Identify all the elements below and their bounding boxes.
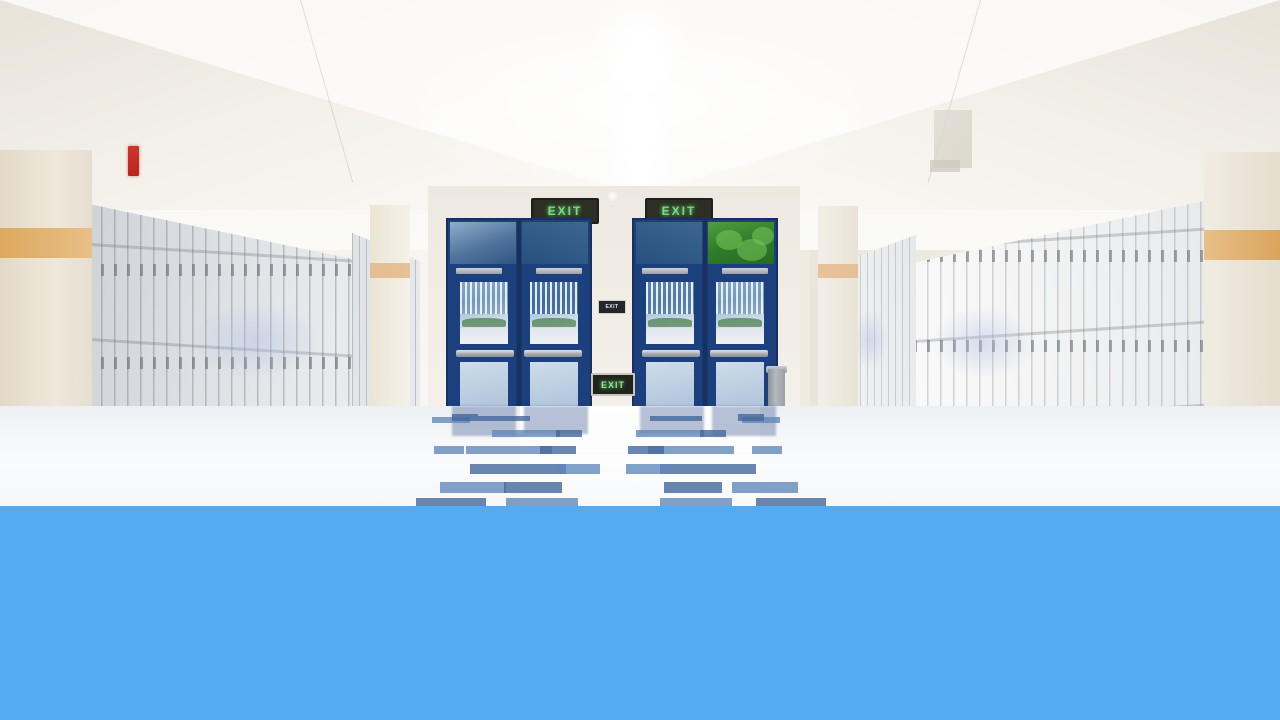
door-vision-glass — [716, 282, 764, 344]
window-blinds — [530, 282, 578, 314]
floor-accent-tile — [628, 446, 664, 454]
double-door-left — [446, 218, 592, 418]
exterior-walkway — [460, 328, 508, 344]
door-closer-arm — [456, 268, 502, 274]
door-lower-panel — [646, 362, 694, 408]
door-lower-panel — [530, 362, 578, 408]
floor-accent-tile — [492, 430, 560, 437]
floor-accent-tile — [556, 430, 582, 437]
foliage-blob — [752, 227, 774, 245]
floor-accent-tile — [504, 482, 562, 493]
door-lower-panel — [716, 362, 764, 408]
door-closer-arm — [536, 268, 582, 274]
floor-accent-tile — [434, 446, 464, 454]
exit-sign-label: EXIT — [605, 304, 618, 310]
floor-accent-tile — [660, 464, 756, 474]
wall-vent-slot — [930, 160, 960, 172]
door-vision-glass — [530, 282, 578, 344]
double-door-right — [632, 218, 778, 418]
door-mullion — [517, 220, 522, 416]
door-closer-arm — [642, 268, 688, 274]
exterior-shrub — [532, 318, 576, 327]
door-vision-glass — [646, 282, 694, 344]
panic-push-bar — [456, 350, 514, 357]
exit-sign-label: EXIT — [601, 380, 625, 390]
floor-accent-tile — [478, 416, 530, 421]
door-lower-panel — [460, 362, 508, 408]
window-blinds — [460, 282, 508, 314]
transom-pane — [450, 222, 516, 264]
hallway-photo: EXIT EXIT — [0, 0, 1280, 506]
exit-sign-lower: EXIT — [591, 373, 635, 396]
exterior-shrub — [648, 318, 692, 327]
floor-accent-tile — [660, 498, 732, 506]
door-closer-arm — [722, 268, 768, 274]
floor-accent-tile — [700, 430, 726, 437]
floor-accent-tile — [470, 464, 566, 474]
floor-accent-tile — [416, 498, 486, 506]
hallway-floor — [0, 406, 1280, 506]
floor-accent-tile — [556, 464, 600, 474]
pillar-accent-band — [1204, 230, 1280, 260]
floor-accent-tile — [452, 414, 478, 421]
exterior-shrub — [718, 318, 762, 327]
door-vision-glass — [460, 282, 508, 344]
locker-reflection — [932, 308, 1034, 378]
exterior-walkway — [646, 328, 694, 344]
panic-push-bar — [642, 350, 700, 357]
locker-reflection — [192, 302, 320, 378]
panic-push-bar — [524, 350, 582, 357]
ceiling-light-3 — [633, 152, 648, 184]
exit-sign-label: EXIT — [548, 204, 583, 218]
floor-accent-tile — [752, 446, 782, 454]
floor-accent-tile — [626, 464, 670, 474]
pillar-accent-band — [818, 264, 858, 278]
locker-handle-row — [88, 264, 378, 276]
exterior-walkway — [530, 328, 578, 344]
panic-push-bar — [710, 350, 768, 357]
pillar-accent-band — [370, 263, 410, 278]
floor-accent-tile — [738, 414, 764, 421]
transom-pane — [636, 222, 702, 264]
floor-accent-tile — [440, 482, 506, 493]
floor-accent-tile — [636, 430, 704, 437]
exterior-walkway — [716, 328, 764, 344]
webinar-title-slide: EXIT EXIT — [0, 0, 1280, 720]
floor-accent-tile — [756, 498, 826, 506]
exit-sign-center-small: EXIT — [598, 300, 626, 314]
door-mullion — [703, 220, 708, 416]
transom-pane-foliage — [708, 222, 774, 264]
exterior-shrub — [462, 318, 506, 327]
recessed-downlight — [606, 192, 619, 202]
exit-sign-label: EXIT — [662, 204, 697, 218]
window-blinds — [646, 282, 694, 314]
window-blinds — [716, 282, 764, 314]
floor-accent-tile — [540, 446, 576, 454]
fire-alarm-pull-station-icon — [128, 146, 139, 176]
transom-pane — [522, 222, 588, 264]
floor-accent-tile — [650, 416, 702, 421]
pillar-accent-band — [0, 228, 92, 258]
floor-accent-tile — [664, 482, 722, 493]
ceiling-light-1 — [627, 28, 653, 88]
floor-accent-tile — [732, 482, 798, 493]
ceiling-light-2 — [630, 104, 650, 148]
locker-reflection — [853, 311, 888, 368]
title-banner: Webinar Proactive vs. Reactive Improving… — [0, 506, 1280, 720]
floor-accent-tile — [506, 498, 578, 506]
